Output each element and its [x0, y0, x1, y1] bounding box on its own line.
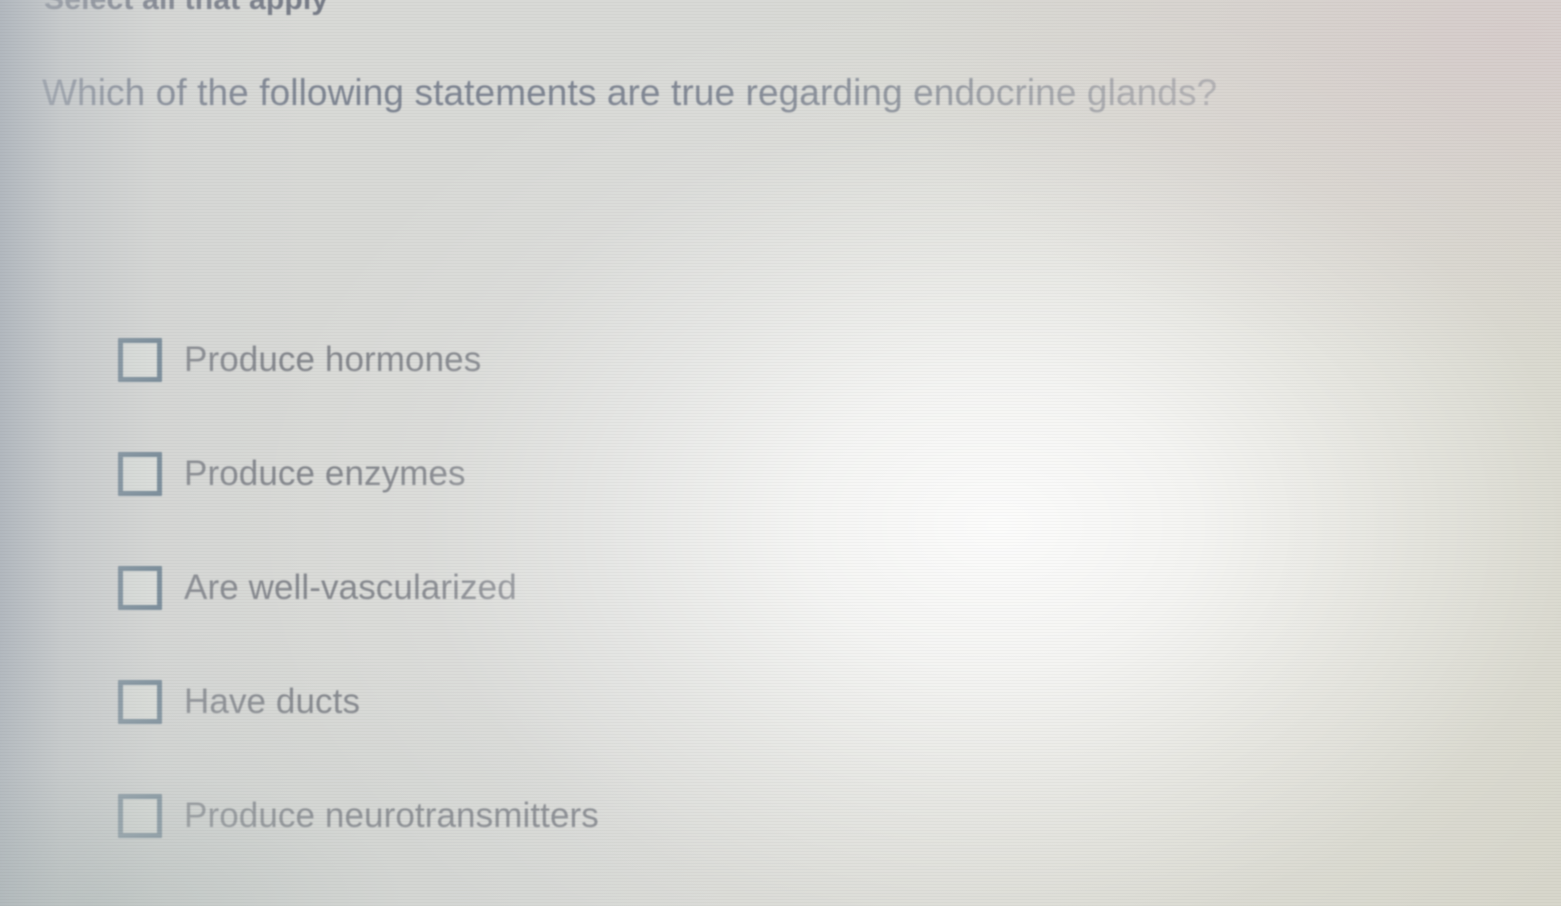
checkbox-icon-produce-hormones[interactable] [118, 338, 162, 382]
checkbox-icon-have-ducts[interactable] [118, 680, 162, 724]
option-label-are-well-vascularized[interactable]: Are well-vascularized [184, 568, 517, 608]
option-label-have-ducts[interactable]: Have ducts [184, 682, 360, 722]
checkbox-icon-produce-neurotransmitters[interactable] [118, 794, 162, 838]
options-list: Produce hormones Produce enzymes Are wel… [118, 303, 1418, 873]
option-label-produce-neurotransmitters[interactable]: Produce neurotransmitters [184, 796, 599, 836]
quiz-content: Select all that apply Which of the follo… [0, 0, 1561, 906]
checkbox-icon-produce-enzymes[interactable] [118, 452, 162, 496]
question-text: Which of the following statements are tr… [42, 72, 1492, 114]
option-row-produce-enzymes[interactable]: Produce enzymes [118, 417, 1418, 531]
option-label-produce-hormones[interactable]: Produce hormones [184, 340, 481, 380]
instruction-text: Select all that apply [44, 0, 328, 17]
option-row-produce-neurotransmitters[interactable]: Produce neurotransmitters [118, 759, 1418, 873]
quiz-screen: Select all that apply Which of the follo… [0, 0, 1561, 906]
option-label-produce-enzymes[interactable]: Produce enzymes [184, 454, 466, 494]
option-row-are-well-vascularized[interactable]: Are well-vascularized [118, 531, 1418, 645]
checkbox-icon-are-well-vascularized[interactable] [118, 566, 162, 610]
option-row-produce-hormones[interactable]: Produce hormones [118, 303, 1418, 417]
option-row-have-ducts[interactable]: Have ducts [118, 645, 1418, 759]
